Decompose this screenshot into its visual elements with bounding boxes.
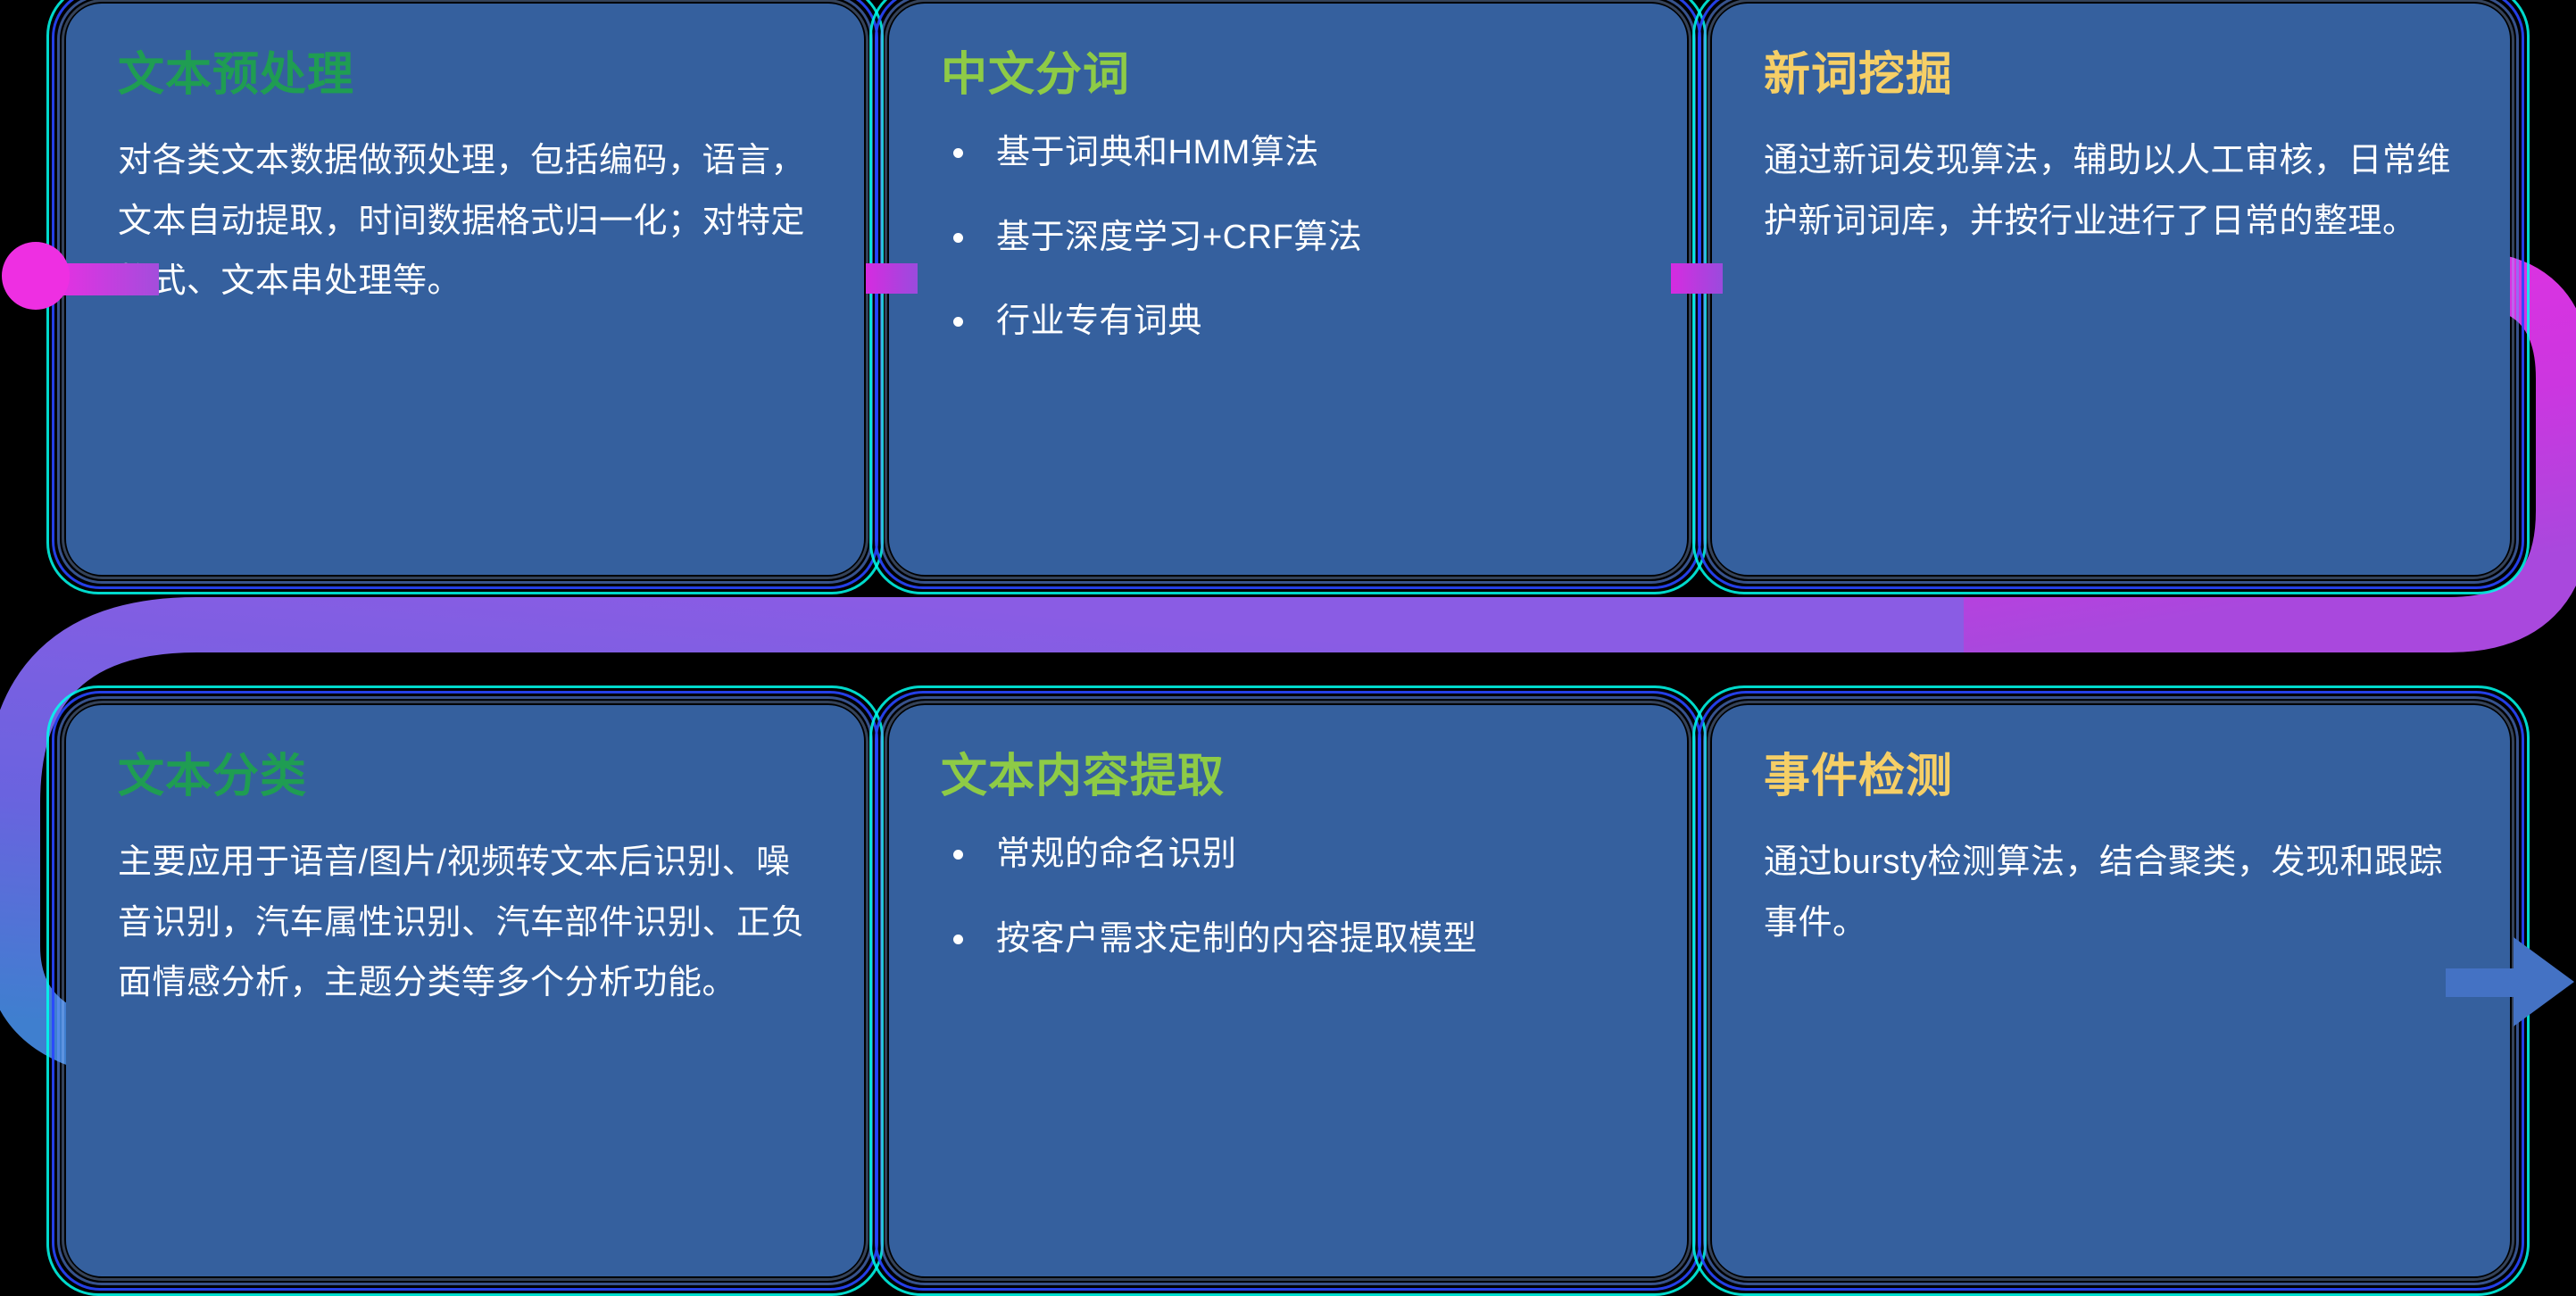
card-surface: 文本内容提取 常规的命名识别 按客户需求定制的内容提取模型 (889, 705, 1687, 1276)
list-item-label: 常规的命名识别 (996, 835, 1237, 873)
list-item: 行业专有词典 (941, 300, 1637, 344)
card-title: 文本分类 (118, 752, 814, 802)
card-text-classification[interactable]: 文本分类 主要应用于语音/图片/视频转文本后识别、噪音识别，汽车属性识别、汽车部… (66, 705, 864, 1276)
bullet-dot-icon (953, 850, 963, 860)
bullet-dot-icon (953, 148, 963, 158)
connector-stub-top-1-2 (866, 263, 918, 294)
card-text-preprocessing[interactable]: 文本预处理 对各类文本数据做预处理，包括编码，语言，文本自动提取，时间数据格式归… (66, 4, 864, 575)
card-title: 中文分词 (941, 50, 1637, 101)
card-paragraph: 通过新词发现算法，辅助以人工审核，日常维护新词词库，并按行业进行了日常的整理。 (1764, 131, 2460, 252)
top-row: 文本预处理 对各类文本数据做预处理，包括编码，语言，文本自动提取，时间数据格式归… (54, 4, 2522, 575)
card-paragraph: 通过bursty检测算法，结合聚类，发现和跟踪事件。 (1764, 833, 2460, 953)
card-surface: 新词挖掘 通过新词发现算法，辅助以人工审核，日常维护新词词库，并按行业进行了日常… (1712, 4, 2510, 575)
card-bullet-list: 常规的命名识别 按客户需求定制的内容提取模型 (941, 833, 1637, 960)
card-surface: 中文分词 基于词典和HMM算法 基于深度学习+CRF算法 行业专有词典 (889, 4, 1687, 575)
list-item: 按客户需求定制的内容提取模型 (941, 918, 1637, 961)
list-item-label: 基于词典和HMM算法 (996, 134, 1319, 171)
card-surface: 文本分类 主要应用于语音/图片/视频转文本后识别、噪音识别，汽车属性识别、汽车部… (66, 705, 864, 1276)
card-title: 文本内容提取 (941, 752, 1637, 802)
card-chinese-word-segmentation[interactable]: 中文分词 基于词典和HMM算法 基于深度学习+CRF算法 行业专有词典 (889, 4, 1687, 575)
connector-stub-top-2-3 (1671, 263, 1723, 294)
card-title: 文本预处理 (118, 50, 814, 101)
card-title: 新词挖掘 (1764, 50, 2460, 101)
start-connector-stub (61, 263, 159, 295)
start-dot-icon (2, 242, 70, 310)
infographic-canvas: 文本预处理 对各类文本数据做预处理，包括编码，语言，文本自动提取，时间数据格式归… (0, 0, 2576, 1277)
card-new-word-discovery[interactable]: 新词挖掘 通过新词发现算法，辅助以人工审核，日常维护新词词库，并按行业进行了日常… (1712, 4, 2510, 575)
end-arrow-shaft (2446, 968, 2522, 997)
bullet-dot-icon (953, 935, 963, 944)
bottom-row: 文本分类 主要应用于语音/图片/视频转文本后识别、噪音识别，汽车属性识别、汽车部… (54, 705, 2522, 1276)
card-surface: 文本预处理 对各类文本数据做预处理，包括编码，语言，文本自动提取，时间数据格式归… (66, 4, 864, 575)
end-arrow-head-icon (2514, 937, 2574, 1026)
list-item: 基于深度学习+CRF算法 (941, 216, 1637, 260)
list-item-label: 行业专有词典 (996, 303, 1202, 340)
card-text-content-extraction[interactable]: 文本内容提取 常规的命名识别 按客户需求定制的内容提取模型 (889, 705, 1687, 1276)
list-item: 基于词典和HMM算法 (941, 131, 1637, 175)
list-item-label: 按客户需求定制的内容提取模型 (996, 920, 1477, 958)
bullet-dot-icon (953, 233, 963, 243)
list-item: 常规的命名识别 (941, 833, 1637, 876)
card-paragraph: 对各类文本数据做预处理，包括编码，语言，文本自动提取，时间数据格式归一化；对特定… (118, 131, 814, 312)
card-event-detection[interactable]: 事件检测 通过bursty检测算法，结合聚类，发现和跟踪事件。 (1712, 705, 2510, 1276)
card-title: 事件检测 (1764, 752, 2460, 802)
card-surface: 事件检测 通过bursty检测算法，结合聚类，发现和跟踪事件。 (1712, 705, 2510, 1276)
card-bullet-list: 基于词典和HMM算法 基于深度学习+CRF算法 行业专有词典 (941, 131, 1637, 344)
list-item-label: 基于深度学习+CRF算法 (996, 219, 1362, 256)
card-paragraph: 主要应用于语音/图片/视频转文本后识别、噪音识别，汽车属性识别、汽车部件识别、正… (118, 833, 814, 1014)
bullet-dot-icon (953, 317, 963, 327)
